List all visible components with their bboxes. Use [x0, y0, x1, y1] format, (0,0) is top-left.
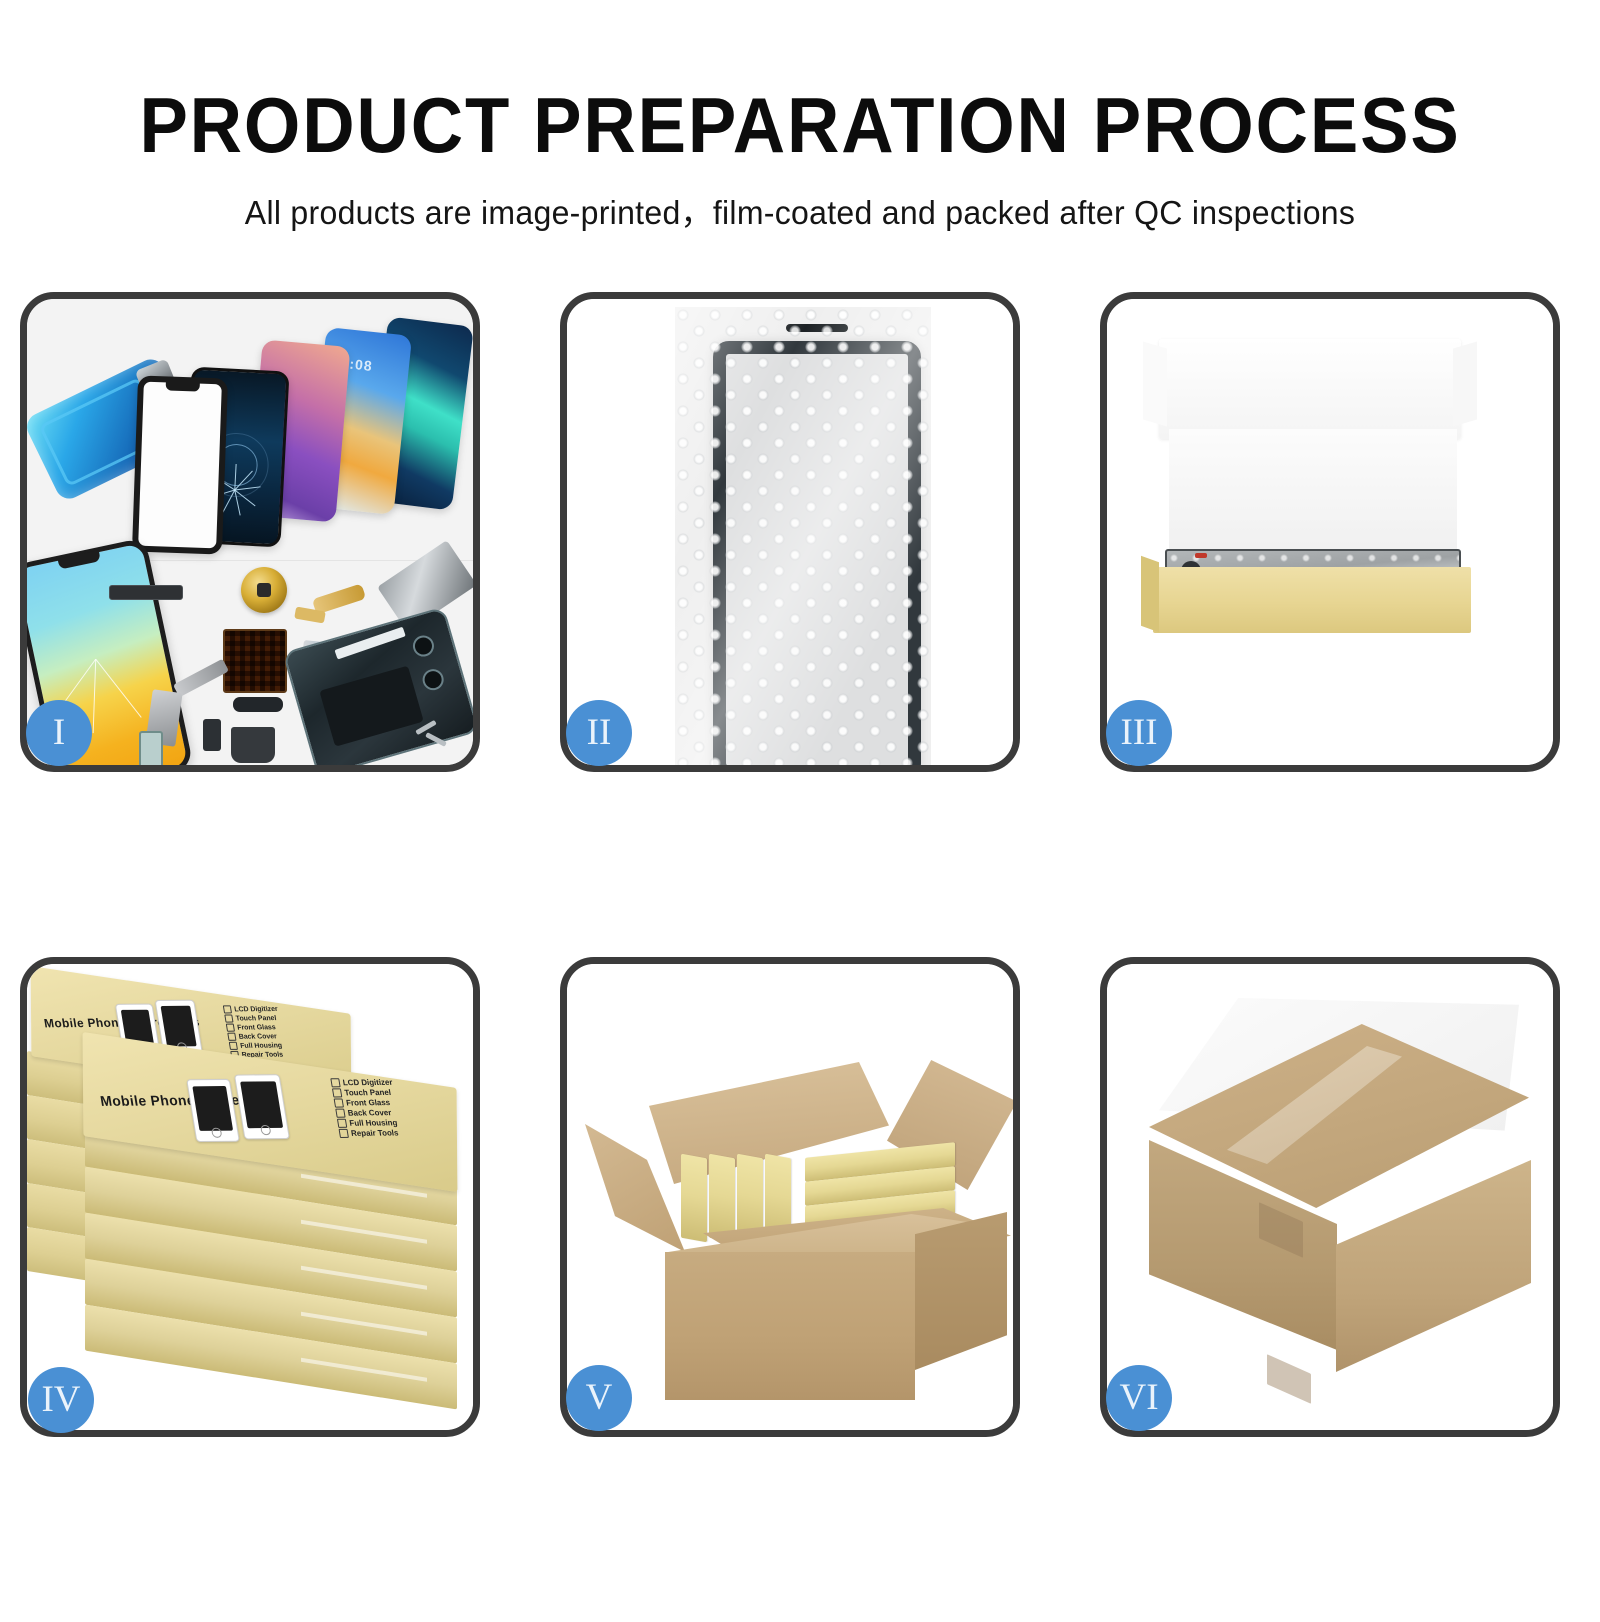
- spare-part-box-stack: Mobile Phone Spare Parts LCD Digitizer T…: [27, 964, 473, 1430]
- step-badge-2: II: [566, 700, 632, 766]
- checklist-item: Full Housing: [240, 1042, 283, 1049]
- step-4-panel: Mobile Phone Spare Parts LCD Digitizer T…: [20, 957, 480, 1437]
- checklist-item: Full Housing: [349, 1118, 398, 1128]
- product-preparation-infographic: PRODUCT PREPARATION PROCESS All products…: [0, 0, 1600, 1600]
- checklist-item: Touch Panel: [344, 1088, 392, 1098]
- process-step-4[interactable]: Mobile Phone Spare Parts LCD Digitizer T…: [20, 957, 480, 1437]
- process-row-2: Mobile Phone Spare Parts LCD Digitizer T…: [0, 957, 1600, 1437]
- step-badge-4: IV: [28, 1367, 94, 1433]
- checklist-item: Front Glass: [237, 1024, 277, 1031]
- checklist-item: Back Cover: [347, 1108, 392, 1118]
- phone-screen-fan: 08:08: [125, 325, 455, 535]
- bubble-wrapped-screen: [675, 307, 931, 765]
- notch-icon: [166, 381, 200, 391]
- plastic-sheen: [675, 307, 931, 765]
- checklist-item: Repair Tools: [350, 1128, 399, 1138]
- step-2-image: [567, 299, 1013, 765]
- step-6-image: [1107, 964, 1553, 1430]
- step-badge-3: III: [1106, 700, 1172, 766]
- logic-chip-part: [223, 629, 287, 693]
- speaker-mesh-part: [109, 585, 183, 600]
- process-step-6[interactable]: VI: [1100, 957, 1560, 1437]
- carton-front-face: [665, 1252, 915, 1400]
- button-part: [233, 697, 283, 712]
- box-phone-thumbnail: [234, 1074, 290, 1139]
- process-step-1[interactable]: 08:08: [20, 292, 480, 772]
- step-5-image: [567, 964, 1013, 1430]
- step-badge-1: I: [26, 700, 92, 766]
- process-grid: 08:08: [0, 292, 1600, 1622]
- front-glass-frame: [132, 375, 228, 554]
- camera-module-part: [231, 727, 275, 763]
- page-title: PRODUCT PREPARATION PROCESS: [56, 86, 1544, 164]
- checklist-item: LCD Digitizer: [342, 1078, 393, 1088]
- step-5-panel: [560, 957, 1020, 1437]
- step-badge-5: V: [566, 1365, 632, 1431]
- process-step-2[interactable]: II: [560, 292, 1020, 772]
- box-checklist: LCD Digitizer Touch Panel Front Glass Ba…: [330, 1078, 401, 1139]
- step-4-image: Mobile Phone Spare Parts LCD Digitizer T…: [27, 964, 473, 1430]
- sim-tray-part: [139, 731, 163, 765]
- step-3-image: [1107, 299, 1553, 765]
- checklist-item: Front Glass: [345, 1098, 390, 1108]
- box-phone-thumbnail: [186, 1079, 240, 1142]
- step-6-panel: [1100, 957, 1560, 1437]
- mailer-box-tray: [1153, 567, 1471, 633]
- checklist-item: Touch Panel: [235, 1015, 277, 1022]
- page-subtitle: All products are image-printed，film-coat…: [24, 186, 1576, 234]
- step-1-panel: 08:08: [20, 292, 480, 772]
- button-part: [203, 719, 221, 751]
- step-2-panel: [560, 292, 1020, 772]
- checklist-item: Back Cover: [238, 1033, 277, 1040]
- step-badge-6: VI: [1106, 1365, 1172, 1431]
- step-3-panel: [1100, 292, 1560, 772]
- mailer-box-lid: [1159, 339, 1461, 439]
- header: PRODUCT PREPARATION PROCESS All products…: [0, 0, 1600, 234]
- wireless-charging-coil-part: [241, 567, 287, 613]
- box-checklist: LCD Digitizer Touch Panel Front Glass Ba…: [223, 1005, 286, 1060]
- step-1-image: 08:08: [27, 299, 473, 765]
- screws-icon: [415, 721, 457, 749]
- process-row-1: 08:08: [0, 292, 1600, 772]
- process-step-5[interactable]: V: [560, 957, 1020, 1437]
- process-step-3[interactable]: III: [1100, 292, 1560, 772]
- checklist-item: LCD Digitizer: [234, 1005, 279, 1012]
